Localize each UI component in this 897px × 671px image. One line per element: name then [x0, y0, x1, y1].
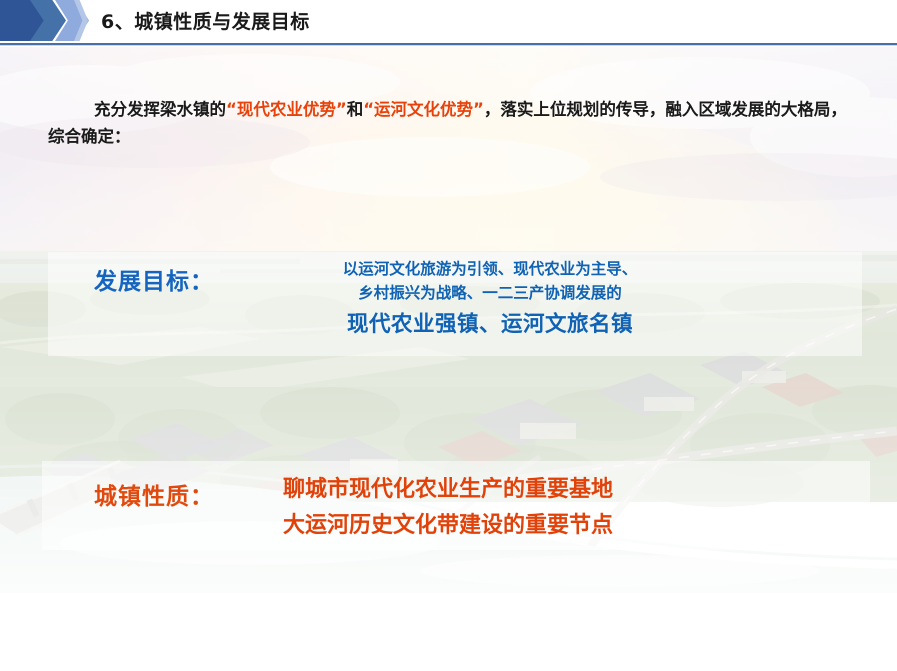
page-title: 6、城镇性质与发展目标	[101, 7, 310, 34]
slide-header: 6、城镇性质与发展目标	[0, 0, 897, 46]
development-goal-line-1: 以运河文化旅游为引领、现代农业为主导、	[280, 257, 700, 281]
development-goal-line-3: 现代农业强镇、运河文旅名镇	[280, 308, 700, 341]
development-goal-line-2: 乡村振兴为战略、一二三产协调发展的	[280, 281, 700, 305]
town-nature-label: 城镇性质：	[94, 477, 214, 511]
town-nature-content: 聊城市现代化农业生产的重要基地 大运河历史文化带建设的重要节点	[283, 472, 683, 543]
intro-paragraph: 充分发挥梁水镇的“现代农业优势”和“运河文化优势”，落实上位规划的传导，融入区域…	[48, 96, 858, 150]
town-nature-line-2: 大运河历史文化带建设的重要节点	[283, 508, 683, 544]
intro-highlight-1: “现代农业优势”	[226, 100, 347, 119]
development-goal-label: 发展目标：	[94, 262, 214, 296]
header-divider-light	[0, 45, 897, 46]
development-goal-content: 以运河文化旅游为引领、现代农业为主导、 乡村振兴为战略、一二三产协调发展的 现代…	[280, 257, 700, 341]
town-nature-line-1: 聊城市现代化农业生产的重要基地	[283, 472, 683, 508]
intro-segment-1: 充分发挥梁水镇的	[94, 100, 226, 119]
slide: 6、城镇性质与发展目标	[0, 0, 897, 671]
intro-highlight-2: “运河文化优势”	[363, 100, 484, 119]
intro-segment-2: 和	[347, 100, 364, 119]
